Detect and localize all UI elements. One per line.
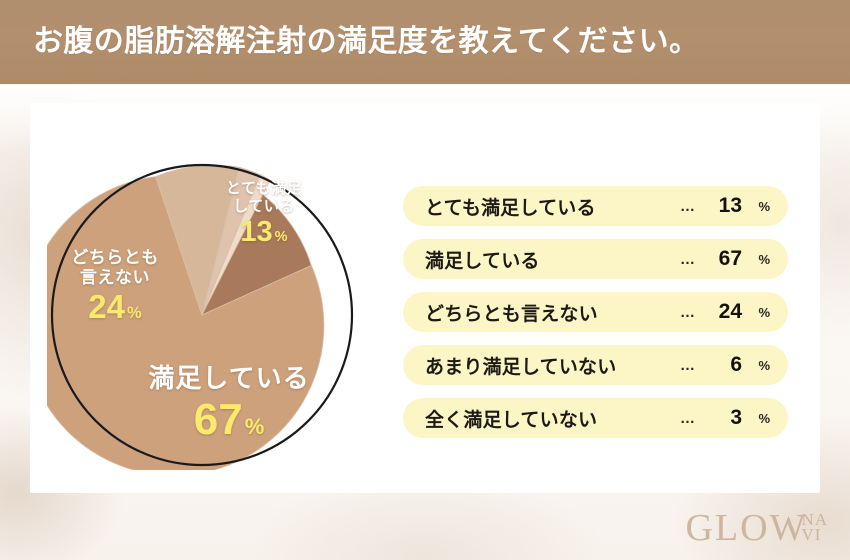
brand-logo-sub-bottom: VI bbox=[801, 528, 828, 543]
legend-percent-symbol: % bbox=[742, 411, 770, 426]
legend-dots: … bbox=[540, 251, 706, 268]
legend-label: あまり満足していない bbox=[425, 352, 616, 379]
brand-logo-sub: NA VI bbox=[801, 513, 828, 543]
brand-logo: GLOW NA VI bbox=[685, 511, 828, 546]
legend-label: とても満足している bbox=[425, 193, 596, 220]
slide-canvas: お腹の脂肪溶解注射の満足度を教えてください。 とても満足 している 13% どち… bbox=[0, 0, 850, 560]
legend-value: 3 bbox=[706, 406, 742, 430]
legend-dots: … bbox=[596, 198, 706, 215]
legend-row-not-satisfied[interactable]: 全く満足していない … 3 % bbox=[403, 398, 788, 438]
legend-value: 6 bbox=[706, 353, 742, 377]
legend-list: とても満足している … 13 % 満足している … 67 % どちらとも言えない… bbox=[403, 186, 788, 438]
legend-row-neutral[interactable]: どちらとも言えない … 24 % bbox=[403, 292, 788, 332]
legend-label: 全く満足していない bbox=[425, 405, 597, 432]
legend-value: 13 bbox=[706, 194, 742, 218]
legend-dots: … bbox=[616, 357, 706, 374]
brand-logo-main: GLOW bbox=[685, 511, 807, 546]
legend-row-satisfied[interactable]: 満足している … 67 % bbox=[403, 239, 788, 279]
legend-dots: … bbox=[598, 304, 706, 321]
legend-label: どちらとも言えない bbox=[425, 299, 598, 326]
legend-dots: … bbox=[597, 410, 706, 427]
header-bar: お腹の脂肪溶解注射の満足度を教えてください。 bbox=[0, 0, 850, 84]
legend-value: 24 bbox=[706, 300, 742, 324]
legend-row-very-satisfied[interactable]: とても満足している … 13 % bbox=[403, 186, 788, 226]
legend-value: 67 bbox=[706, 247, 742, 271]
legend-percent-symbol: % bbox=[742, 252, 770, 267]
pie-chart: とても満足 している 13% どちらとも 言えない 24% 満足している 67% bbox=[47, 160, 357, 470]
legend-percent-symbol: % bbox=[742, 305, 770, 320]
legend-percent-symbol: % bbox=[742, 199, 770, 214]
page-title: お腹の脂肪溶解注射の満足度を教えてください。 bbox=[0, 27, 699, 57]
legend-row-not-very-satisfied[interactable]: あまり満足していない … 6 % bbox=[403, 345, 788, 385]
legend-percent-symbol: % bbox=[742, 358, 770, 373]
pie-chart-svg bbox=[47, 160, 357, 470]
legend-label: 満足している bbox=[425, 246, 540, 273]
